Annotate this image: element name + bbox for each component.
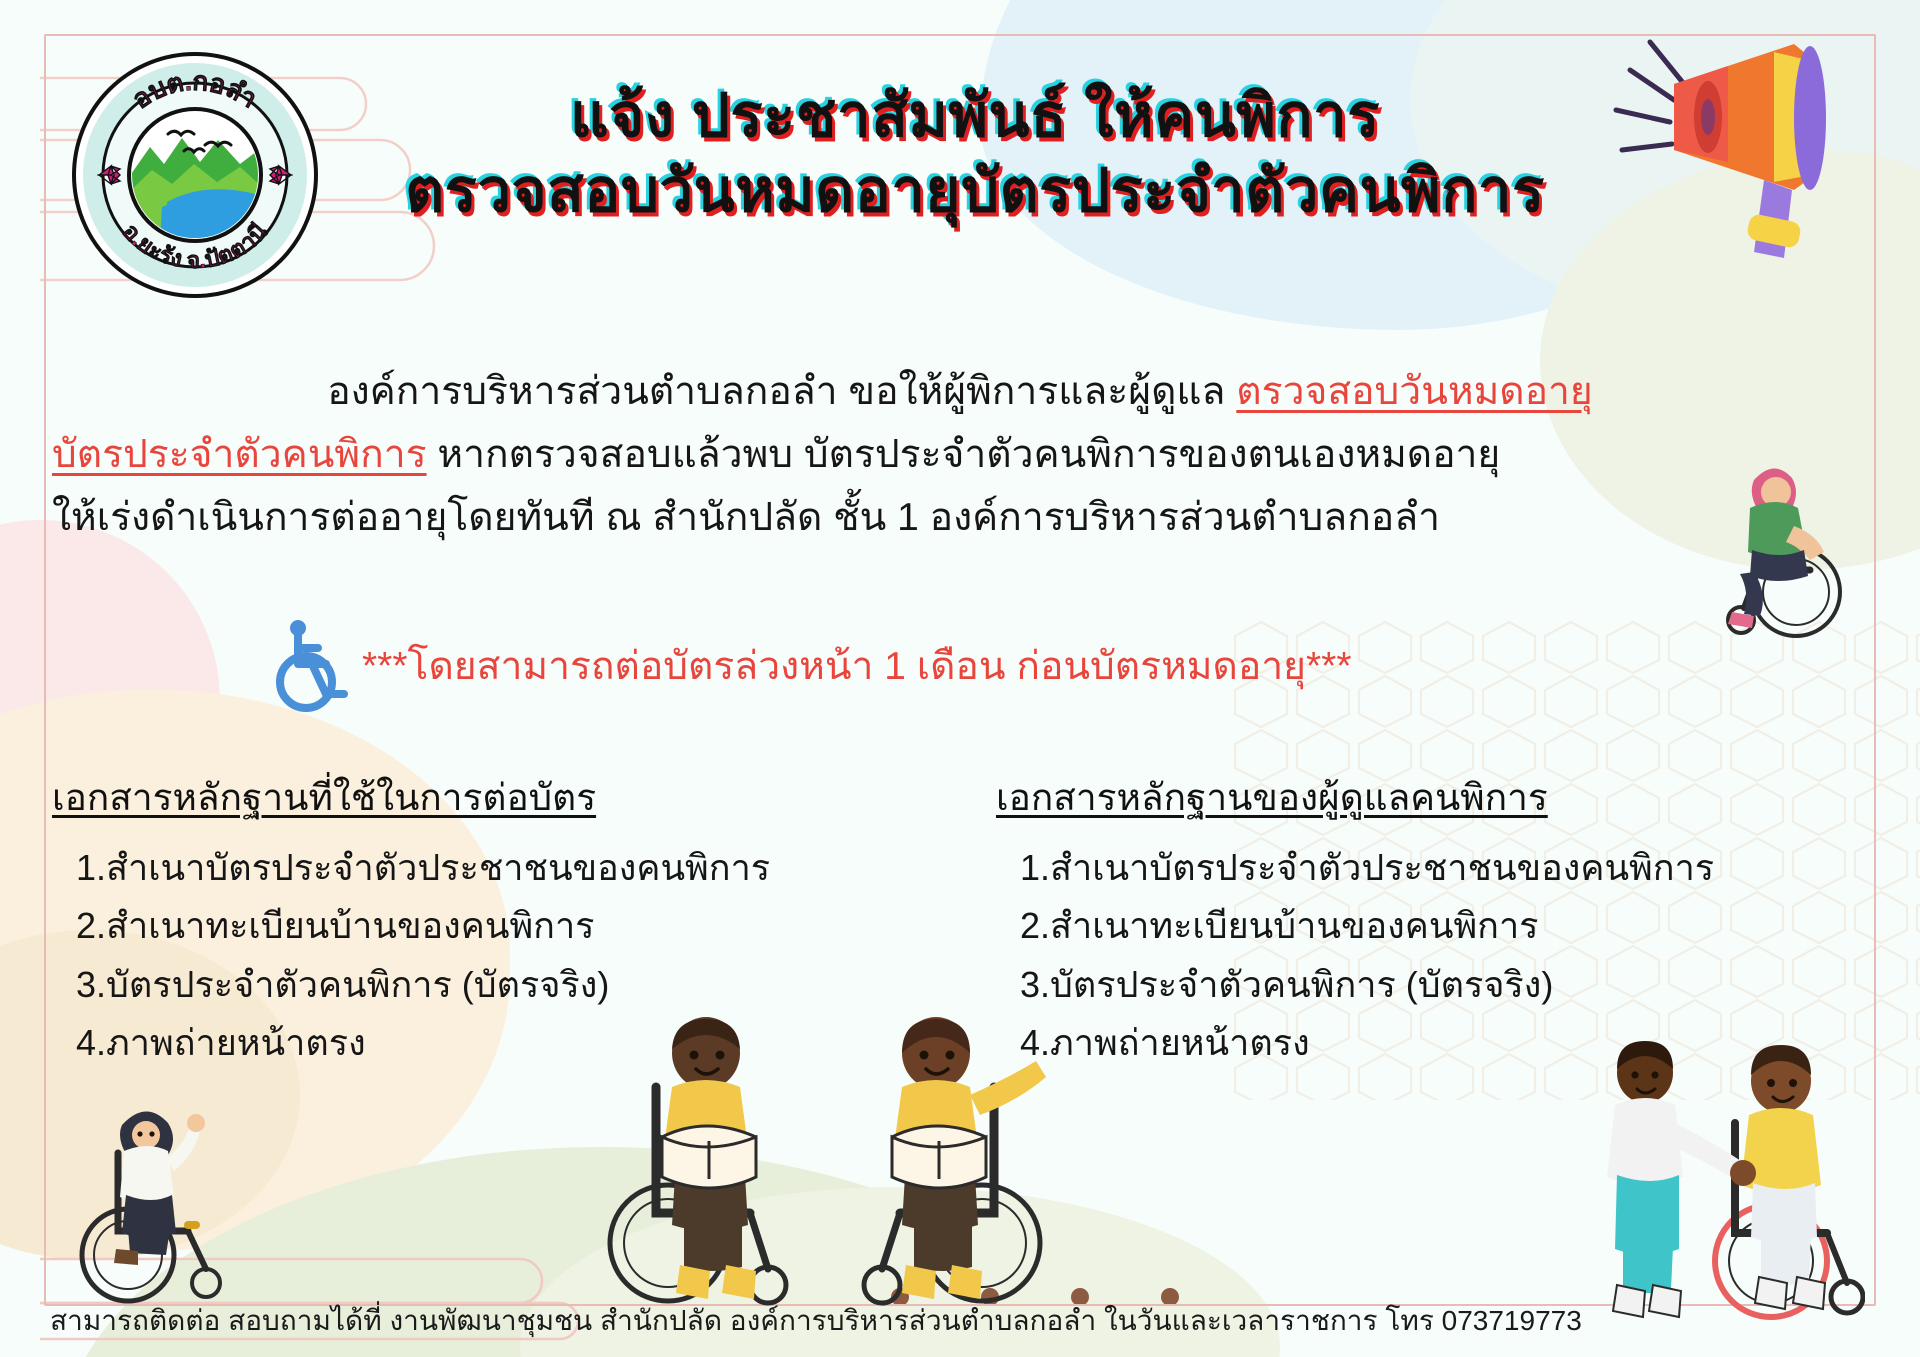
footer-contact-text: สามารถติดต่อ สอบถามได้ที่ งานพัฒนาชุมชน … [50, 1299, 1810, 1343]
list-item: 2.สำเนาทะเบียนบ้านของคนพิการ [52, 897, 960, 955]
announcement-body: องค์การบริหารส่วนตำบลกอลำ ขอให้ผู้พิการแ… [44, 360, 1876, 550]
list-item: 1.สำเนาบัตรประจำตัวประชาชนของคนพิการ [52, 839, 960, 897]
poster-canvas: อบต.กอลำ อ.ยะรัง จ.ปัตตานี แจ้ง ประชาสัม… [0, 0, 1920, 1357]
megaphone-icon [1578, 22, 1878, 282]
documents-right-list: 1.สำเนาบัตรประจำตัวประชาชนของคนพิการ 2.ส… [996, 839, 1876, 1072]
documents-left-list: 1.สำเนาบัตรประจำตัวประชาชนของคนพิการ 2.ส… [52, 839, 960, 1072]
documents-section: เอกสารหลักฐานที่ใช้ในการต่อบัตร 1.สำเนาบ… [44, 768, 1876, 1072]
body-line-2-highlight: บัตรประจำตัวคนพิการ [52, 433, 427, 476]
title-line-1: แจ้ง ประชาสัมพันธ์ ให้คนพิการ [330, 82, 1620, 149]
documents-right-heading: เอกสารหลักฐานของผู้ดูแลคนพิการ [996, 768, 1548, 827]
list-item: 4.ภาพถ่ายหน้าตรง [52, 1014, 960, 1072]
body-line-3: ให้เร่งดำเนินการต่ออายุโดยทันที ณ สำนักป… [52, 486, 1868, 549]
documents-right-column: เอกสารหลักฐานของผู้ดูแลคนพิการ 1.สำเนาบั… [960, 768, 1876, 1072]
list-item: 1.สำเนาบัตรประจำตัวประชาชนของคนพิการ [996, 839, 1876, 897]
advance-renewal-notice: ***โดยสามารถต่อบัตรล่วงหน้า 1 เดือน ก่อน… [268, 620, 1352, 712]
body-line-1: องค์การบริหารส่วนตำบลกอลำ ขอให้ผู้พิการแ… [52, 360, 1868, 423]
organization-logo: อบต.กอลำ อ.ยะรัง จ.ปัตตานี [72, 52, 318, 298]
list-item: 4.ภาพถ่ายหน้าตรง [996, 1014, 1876, 1072]
body-line-2-plain: หากตรวจสอบแล้วพบ บัตรประจำตัวคนพิการของต… [427, 433, 1501, 476]
list-item: 3.บัตรประจำตัวคนพิการ (บัตรจริง) [996, 956, 1876, 1014]
documents-left-column: เอกสารหลักฐานที่ใช้ในการต่อบัตร 1.สำเนาบ… [44, 768, 960, 1072]
poster-title: แจ้ง ประชาสัมพันธ์ ให้คนพิการ ตรวจสอบวัน… [330, 82, 1620, 224]
title-line-2: ตรวจสอบวันหมดอายุบัตรประจำตัวคนพิการ [330, 157, 1620, 224]
body-line-2: บัตรประจำตัวคนพิการ หากตรวจสอบแล้วพบ บัต… [52, 423, 1868, 486]
list-item: 3.บัตรประจำตัวคนพิการ (บัตรจริง) [52, 956, 960, 1014]
body-line-1-highlight: ตรวจสอบวันหมดอายุ [1236, 370, 1592, 413]
list-item: 2.สำเนาทะเบียนบ้านของคนพิการ [996, 897, 1876, 955]
girl-waving-wheelchair-illustration [70, 1097, 240, 1307]
body-line-1-plain: องค์การบริหารส่วนตำบลกอลำ ขอให้ผู้พิการแ… [327, 370, 1236, 413]
wheelchair-icon [268, 620, 354, 712]
documents-left-heading: เอกสารหลักฐานที่ใช้ในการต่อบัตร [52, 768, 596, 827]
advance-renewal-text: ***โดยสามารถต่อบัตรล่วงหน้า 1 เดือน ก่อน… [362, 635, 1352, 697]
